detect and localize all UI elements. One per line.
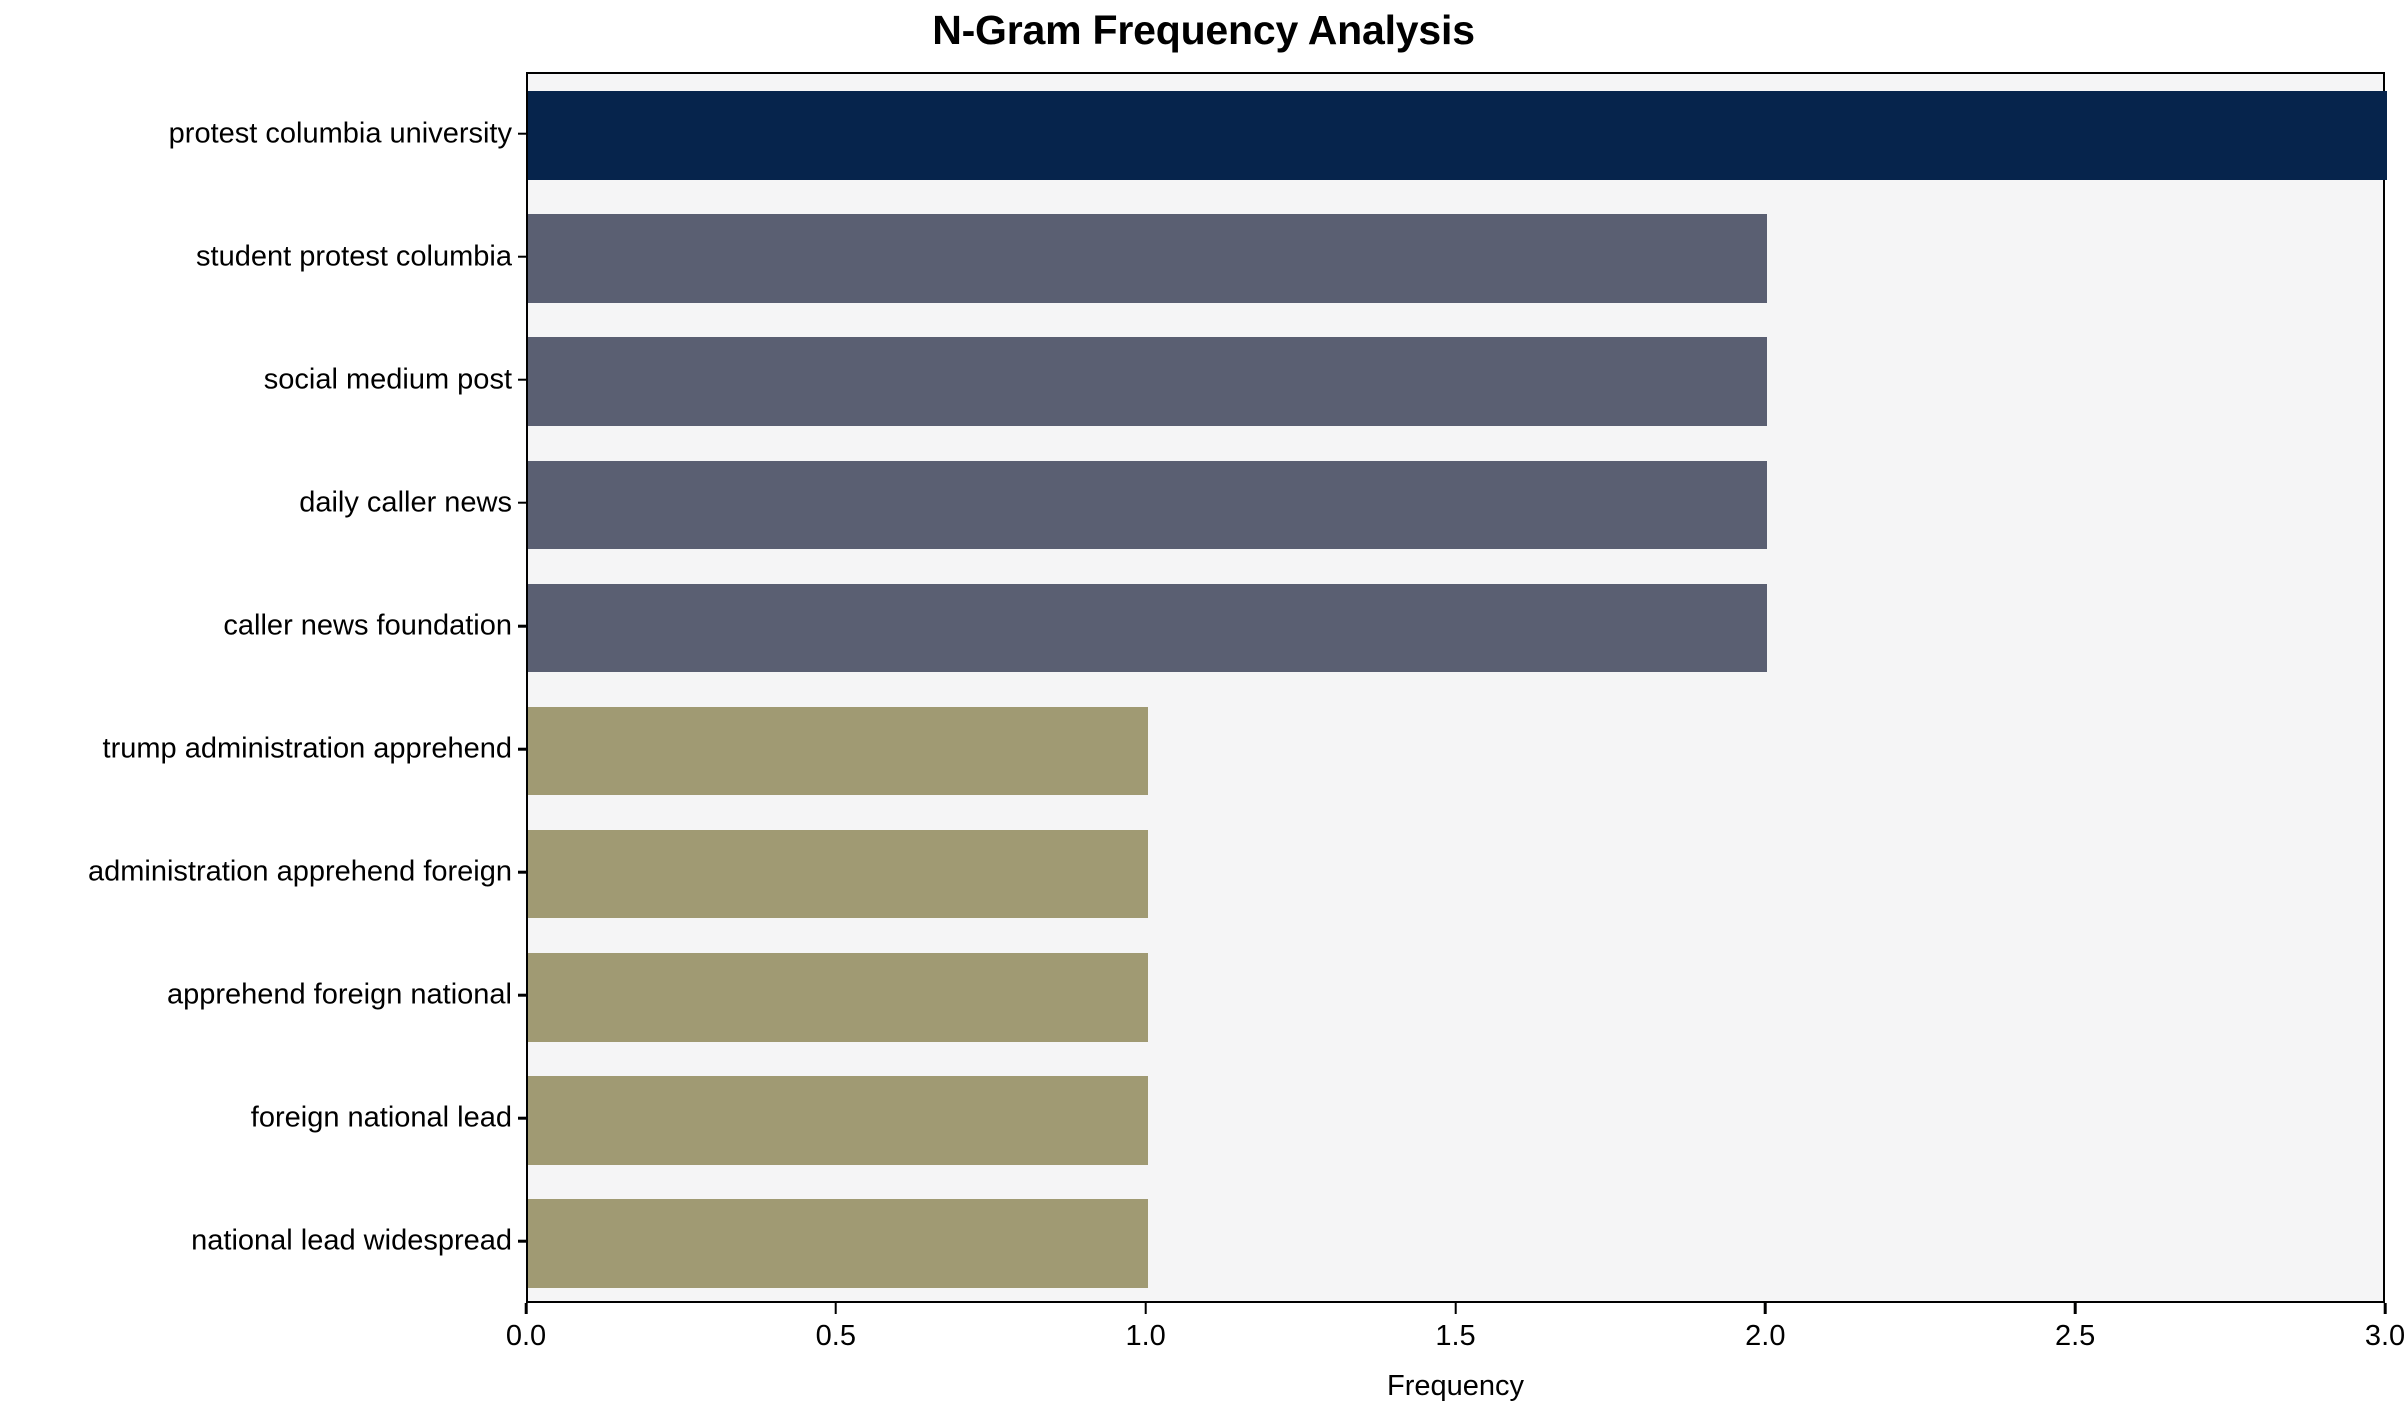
y-tick-mark-2 [518,378,528,381]
y-tick-mark-8 [518,1117,528,1120]
x-tick-label-3: 1.5 [1435,1322,1475,1351]
bar-4[interactable] [528,584,1767,673]
x-tick-label-4: 2.0 [1745,1322,1785,1351]
bar-row [528,1076,2383,1165]
x-tick-mark-2 [1144,1303,1147,1314]
y-tick-mark-1 [518,255,528,258]
y-tick-label-9: national lead widespread [0,1225,512,1258]
x-tick-label-6: 3.0 [2365,1322,2405,1351]
y-tick-label-4: caller news foundation [0,609,512,642]
x-tick-label-0: 0.0 [506,1322,546,1351]
x-tick-mark-0 [525,1303,528,1314]
x-tick-label-5: 2.5 [2055,1322,2095,1351]
y-tick-mark-6 [518,871,528,874]
bar-row [528,584,2383,673]
y-tick-mark-4 [518,625,528,628]
chart-title: N-Gram Frequency Analysis [0,2,2407,58]
bar-row [528,953,2383,1042]
bar-row [528,707,2383,796]
y-tick-mark-9 [518,1240,528,1243]
y-tick-label-7: apprehend foreign national [0,979,512,1012]
x-tick-label-1: 0.5 [816,1322,856,1351]
x-tick-mark-3 [1454,1303,1457,1314]
x-tick-label-2: 1.0 [1125,1322,1165,1351]
bar-5[interactable] [528,707,1148,796]
y-tick-label-1: student protest columbia [0,240,512,273]
y-tick-mark-0 [518,132,528,135]
y-tick-mark-3 [518,502,528,505]
bar-row [528,830,2383,919]
bar-9[interactable] [528,1199,1148,1288]
bar-8[interactable] [528,1076,1148,1165]
bar-row [528,91,2383,180]
x-tick-mark-5 [2074,1303,2077,1314]
plot-area [526,72,2385,1303]
y-tick-label-0: protest columbia university [0,117,512,150]
y-tick-label-2: social medium post [0,363,512,396]
bar-row [528,214,2383,303]
y-tick-label-6: administration apprehend foreign [0,856,512,889]
bar-row [528,461,2383,550]
bar-1[interactable] [528,214,1767,303]
bars-container [528,74,2383,1301]
bar-row [528,337,2383,426]
x-tick-mark-4 [1764,1303,1767,1314]
x-tick-mark-1 [835,1303,838,1314]
bar-0[interactable] [528,91,2387,180]
bar-row [528,1199,2383,1288]
y-tick-mark-5 [518,748,528,751]
bar-6[interactable] [528,830,1148,919]
bar-3[interactable] [528,461,1767,550]
chart-figure: N-Gram Frequency Analysis protest columb… [0,0,2407,1414]
bar-2[interactable] [528,337,1767,426]
y-tick-label-5: trump administration apprehend [0,733,512,766]
x-tick-mark-6 [2384,1303,2387,1314]
x-axis-title: Frequency [526,1372,2385,1401]
bar-7[interactable] [528,953,1148,1042]
y-tick-mark-7 [518,994,528,997]
y-tick-label-3: daily caller news [0,486,512,519]
y-tick-label-8: foreign national lead [0,1102,512,1135]
